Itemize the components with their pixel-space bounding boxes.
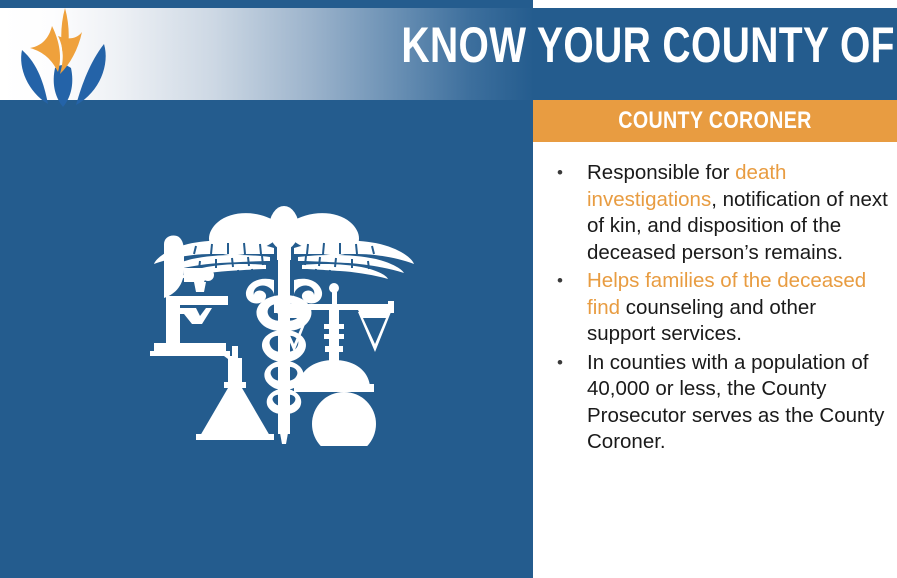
bullet-item: •Helps families of the deceased find cou… — [545, 268, 889, 348]
plain-phrase: counseling and other support services. — [587, 296, 816, 346]
bullet-list: •Responsible for death investigations, n… — [545, 160, 889, 458]
plain-phrase: Responsible for — [587, 161, 735, 184]
bullet-marker: • — [545, 160, 587, 187]
page-title: KNOW YOUR COUNTY OFFICIALS — [401, 12, 885, 78]
w-flame-logo — [8, 6, 118, 110]
top-right-white-notch — [533, 0, 897, 8]
section-banner: COUNTY CORONER — [533, 100, 897, 142]
bullet-text: In counties with a population of 40,000 … — [587, 350, 889, 456]
bullet-marker: • — [545, 350, 587, 377]
slide-canvas: KNOW YOUR COUNTY OFFICIALS COUNTY CORONE… — [0, 0, 897, 578]
bullet-marker: • — [545, 268, 587, 295]
bullet-item: •Responsible for death investigations, n… — [545, 160, 889, 266]
caduceus-forensics-icons — [148, 196, 420, 446]
section-banner-label: COUNTY CORONER — [566, 100, 864, 142]
content-panel: •Responsible for death investigations, n… — [533, 142, 897, 578]
bullet-text: Responsible for death investigations, no… — [587, 160, 889, 266]
plain-phrase: In counties with a population of 40,000 … — [587, 351, 884, 454]
bullet-item: •In counties with a population of 40,000… — [545, 350, 889, 456]
bullet-text: Helps families of the deceased find coun… — [587, 268, 889, 348]
